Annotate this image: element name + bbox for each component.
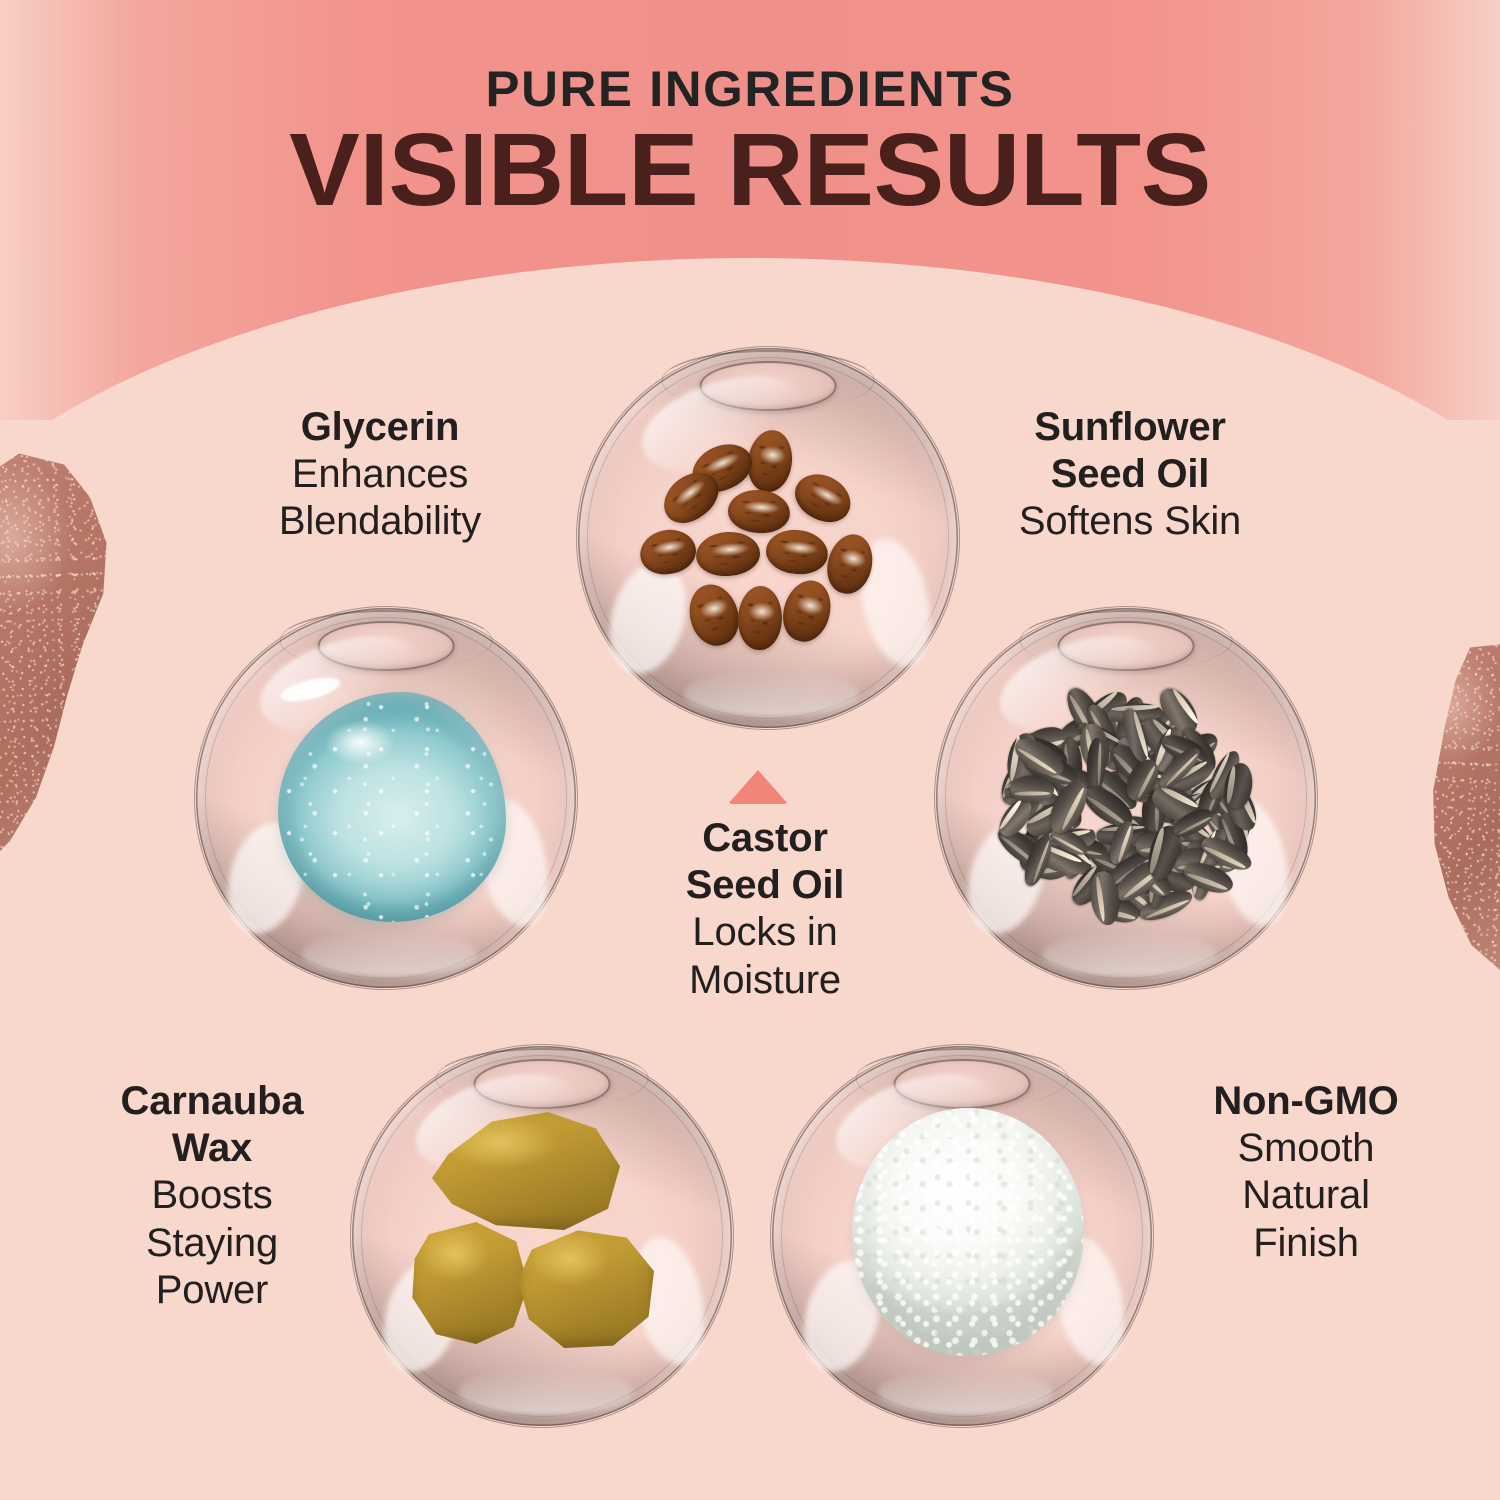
ingredient-benefit-line: Power [42,1267,382,1314]
ingredient-name: Glycerin [170,404,590,451]
ingredient-orb-non-gmo[interactable] [772,1046,1152,1426]
glass-highlight-bottom [458,1369,633,1415]
glass-highlight-bottom [1042,931,1217,977]
ingredient-benefit-line: Finish [1130,1220,1482,1267]
ingredient-benefit-line: Smooth [1130,1125,1482,1172]
ingredient-benefit-line: Boosts [42,1172,382,1219]
sunflower-seed-pile [991,680,1261,930]
ingredient-benefit-line: Blendability [170,498,590,545]
ingredient-name: Sunflower [910,404,1350,451]
ingredient-name: Carnauba [42,1078,382,1125]
glass-highlight-bottom [684,671,859,717]
infographic-canvas: PURE INGREDIENTS VISIBLE RESULTS [0,0,1500,1500]
glass-highlight-bottom [878,1369,1053,1415]
ingredient-name: Castor [600,815,930,862]
ingredient-benefit-line: Natural [1130,1172,1482,1219]
ingredient-orb-carnauba-wax[interactable] [352,1046,732,1426]
ingredient-orb-castor-seed-oil[interactable] [578,348,958,728]
ingredient-label-carnauba-wax: Carnauba Wax Boosts Staying Power [42,1078,382,1314]
glass-highlight-bottom [302,931,477,977]
ingredient-name: Non-GMO [1130,1078,1482,1125]
ingredient-orb-sunflower-seed-oil[interactable] [936,608,1316,988]
ingredient-benefit-line: Locks in [600,909,930,956]
ingredient-label-castor-seed-oil: Castor Seed Oil Locks in Moisture [600,815,930,1004]
ingredient-name: Seed Oil [600,862,930,909]
ingredient-benefit-line: Softens Skin [910,498,1350,545]
ingredient-orb-glycerin[interactable] [196,608,576,988]
ingredient-name: Wax [42,1125,382,1172]
white-powder-mound [852,1108,1084,1356]
ingredient-benefit-line: Moisture [600,957,930,1004]
ingredient-label-glycerin: Glycerin Enhances Blendability [170,404,590,546]
headline-secondary: VISIBLE RESULTS [0,118,1500,221]
ingredient-name: Seed Oil [910,451,1350,498]
ingredient-benefit-line: Enhances [170,451,590,498]
ingredient-benefit-line: Staying [42,1220,382,1267]
headline-primary: PURE INGREDIENTS [0,60,1500,118]
ingredient-label-sunflower-seed-oil: Sunflower Seed Oil Softens Skin [910,404,1350,546]
ingredient-label-non-gmo: Non-GMO Smooth Natural Finish [1130,1078,1482,1267]
castor-pointer-triangle-icon [728,770,788,804]
